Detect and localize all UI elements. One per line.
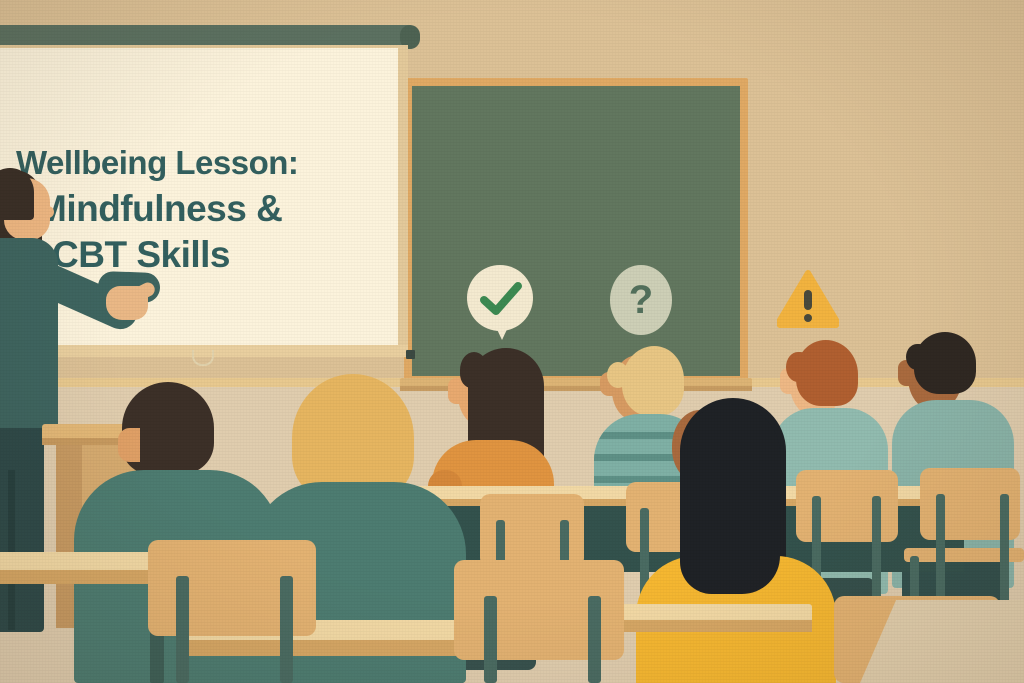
warning-bar bbox=[804, 290, 812, 310]
chalkboard-surface bbox=[412, 86, 740, 376]
chair-leg-front-blonde-r bbox=[588, 596, 601, 683]
question-glyph: ? bbox=[610, 265, 672, 335]
student-right-fringe bbox=[906, 344, 928, 370]
classroom-illustration: ? Wellbeing Lesson: Mindfulness & CBT Sk… bbox=[0, 0, 1024, 683]
screen-line-1: Wellbeing Lesson: bbox=[16, 144, 366, 183]
chalk-piece bbox=[406, 350, 415, 359]
check-icon[interactable] bbox=[467, 265, 533, 331]
student-striped-hair bbox=[622, 346, 684, 416]
teacher-legs bbox=[0, 420, 44, 632]
chair-leg-front-left-r bbox=[280, 576, 293, 683]
chair-leg-front-left-l bbox=[176, 576, 189, 683]
student-yellow-hair-front bbox=[680, 404, 780, 594]
warning-dot bbox=[804, 314, 812, 322]
teacher-leg-gap bbox=[8, 470, 15, 630]
student-front-left-ear bbox=[118, 428, 140, 462]
check-glyph bbox=[479, 279, 523, 319]
student-orange-fringe bbox=[460, 352, 488, 388]
speech-bubble-tail bbox=[494, 323, 510, 340]
desk-front-right-edge bbox=[178, 640, 478, 656]
screen-heading: Wellbeing Lesson: Mindfulness & CBT Skil… bbox=[16, 144, 366, 276]
screen-line-2: Mindfulness & bbox=[36, 187, 366, 231]
screen-line-3: CBT Skills bbox=[52, 233, 366, 277]
chair-leg-front-blonde-l bbox=[484, 596, 497, 683]
student-auburn-fringe bbox=[786, 352, 810, 382]
student-striped-fringe bbox=[607, 362, 629, 388]
warning-icon[interactable] bbox=[777, 270, 839, 328]
